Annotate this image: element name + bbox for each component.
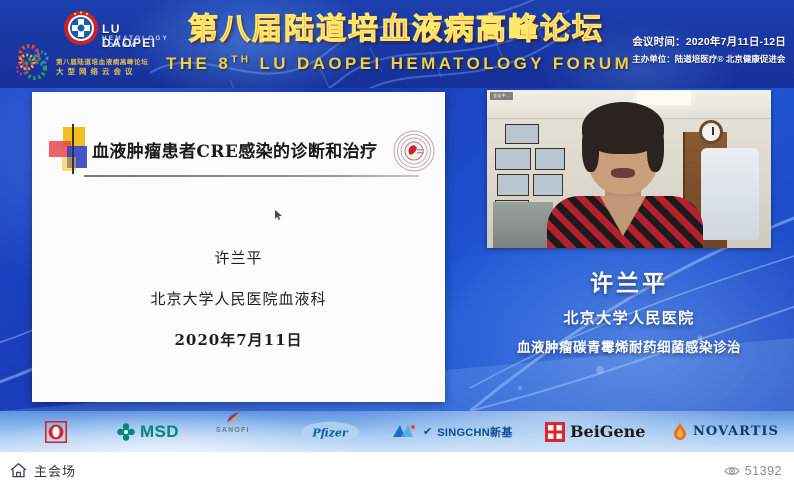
pfizer-oval-icon: Pfizer [300,421,360,443]
speaker-name: 许兰平 [487,264,771,298]
sponsor-logo-item[interactable]: MSD [117,411,179,452]
red-square-lens-icon [45,421,67,443]
speaker-hair-side [647,124,664,172]
eye-icon [724,465,740,477]
speaker-hair-side [582,124,599,172]
hanging-coat [701,148,759,240]
bottom-toolbar: 主会场 51392 [0,452,794,489]
presentation-slide[interactable]: 血液肿瘤患者CRE感染的诊断和治疗 许兰平 北京大学人民医院血液科 2020年7… [32,92,445,402]
slide-body-line: 2020年7月11日 [32,329,445,350]
wall-picture-frame [495,148,531,170]
singchn-icon [392,423,418,441]
wall-picture-frame [535,148,565,170]
slide-title-rule [84,175,419,177]
sponsor-name: NOVARTIS [693,424,779,439]
room-selector[interactable]: 主会场 [10,461,76,480]
hospital-seal-icon [393,130,435,172]
wall-picture-frame [505,124,539,144]
novartis-flame-icon [672,422,688,442]
stage-area: 血液肿瘤患者CRE感染的诊断和治疗 许兰平 北京大学人民医院血液科 2020年7… [0,88,794,411]
wall-clock-icon [699,120,723,144]
slide-title: 血液肿瘤患者CRE感染的诊断和治疗 [92,137,412,162]
cross-shield-icon [63,10,99,46]
sponsor-name: BeiGene [570,422,645,441]
event-host: 主办单位：陆道培医疗® 北京健康促进会 [632,53,786,65]
sponsor-logo-item[interactable]: Pfizer [300,411,360,452]
shelf-clutter [493,202,553,248]
sponsor-logo-item[interactable] [45,411,67,452]
event-title-en-sup: TH [231,54,251,65]
forum-logo: LU DAOPEI HEMATOLOGY FORUM 第八届陆道培血液病高峰论坛… [8,6,173,84]
event-time: 会议时间：2020年7月11日-12日 [632,34,786,49]
mouse-cursor-icon [275,210,283,221]
wall-picture-frame [497,174,529,196]
ceiling-light-icon [637,91,691,105]
sponsor-logo-bar: MSD SANOFI Pfizer ✔ SINGCHN新基 [0,411,794,452]
wall-picture-frame [533,174,563,196]
singchn-separator: ✔ [423,425,432,438]
slide-body-line: 许兰平 [32,247,445,268]
speaker-video-feed[interactable]: 会议中… [487,90,771,248]
sponsor-name: MSD [140,422,179,442]
view-count-value: 51392 [745,464,782,478]
event-header-banner: LU DAOPEI HEMATOLOGY FORUM 第八届陆道培血液病高峰论坛… [0,0,794,88]
logo-brand-cn-1: 第八届陆道培血液病高峰论坛 [56,56,148,66]
video-overlay-label: 会议中… [490,92,513,100]
event-title-en-suffix: LU DAOPEI HEMATOLOGY FORUM [259,54,632,73]
sanofi-bird-icon [224,411,242,426]
sponsor-logo-item[interactable]: ✔ SINGCHN新基 [392,411,513,452]
svg-text:Pfizer: Pfizer [311,426,349,439]
speaker-organization: 北京大学人民医院 [487,307,771,328]
event-title-en: THE 8TH LU DAOPEI HEMATOLOGY FORUM [166,54,626,74]
sponsor-logo-item[interactable]: BeiGene [545,411,645,452]
msd-clover-icon [117,423,135,441]
event-title-en-prefix: THE 8 [166,54,231,73]
event-meta: 会议时间：2020年7月11日-12日 主办单位：陆道培医疗® 北京健康促进会 [632,34,786,65]
room-label: 主会场 [34,461,76,480]
live-stream-page: LU DAOPEI HEMATOLOGY FORUM 第八届陆道培血液病高峰论坛… [0,0,794,489]
beigene-square-icon [545,422,565,442]
viewer-count: 51392 [724,464,782,478]
logo-brand-cn-2: 大型网络云会议 [56,66,137,77]
speaker-mouth [611,168,635,178]
sponsor-logo-item[interactable]: SANOFI [216,411,250,452]
sponsor-logo-item[interactable]: NOVARTIS [672,411,779,452]
event-title-cn: 第八届陆道培血液病高峰论坛 [166,12,626,48]
sponsor-name: SINGCHN新基 [437,424,512,440]
sponsor-name: SANOFI [216,427,250,434]
slide-body-line: 北京大学人民医院血液科 [32,288,445,309]
logo-brand-sub-en: HEMATOLOGY FORUM [102,35,173,49]
home-icon[interactable] [10,462,27,479]
colorful-eight-ring-icon [13,42,59,82]
slide-body: 许兰平 北京大学人民医院血液科 2020年7月11日 [32,247,445,350]
speaker-topic: 血液肿瘤碳青霉烯耐药细菌感染诊治 [487,336,771,356]
speaker-info-panel: 许兰平 北京大学人民医院 血液肿瘤碳青霉烯耐药细菌感染诊治 [487,264,771,356]
